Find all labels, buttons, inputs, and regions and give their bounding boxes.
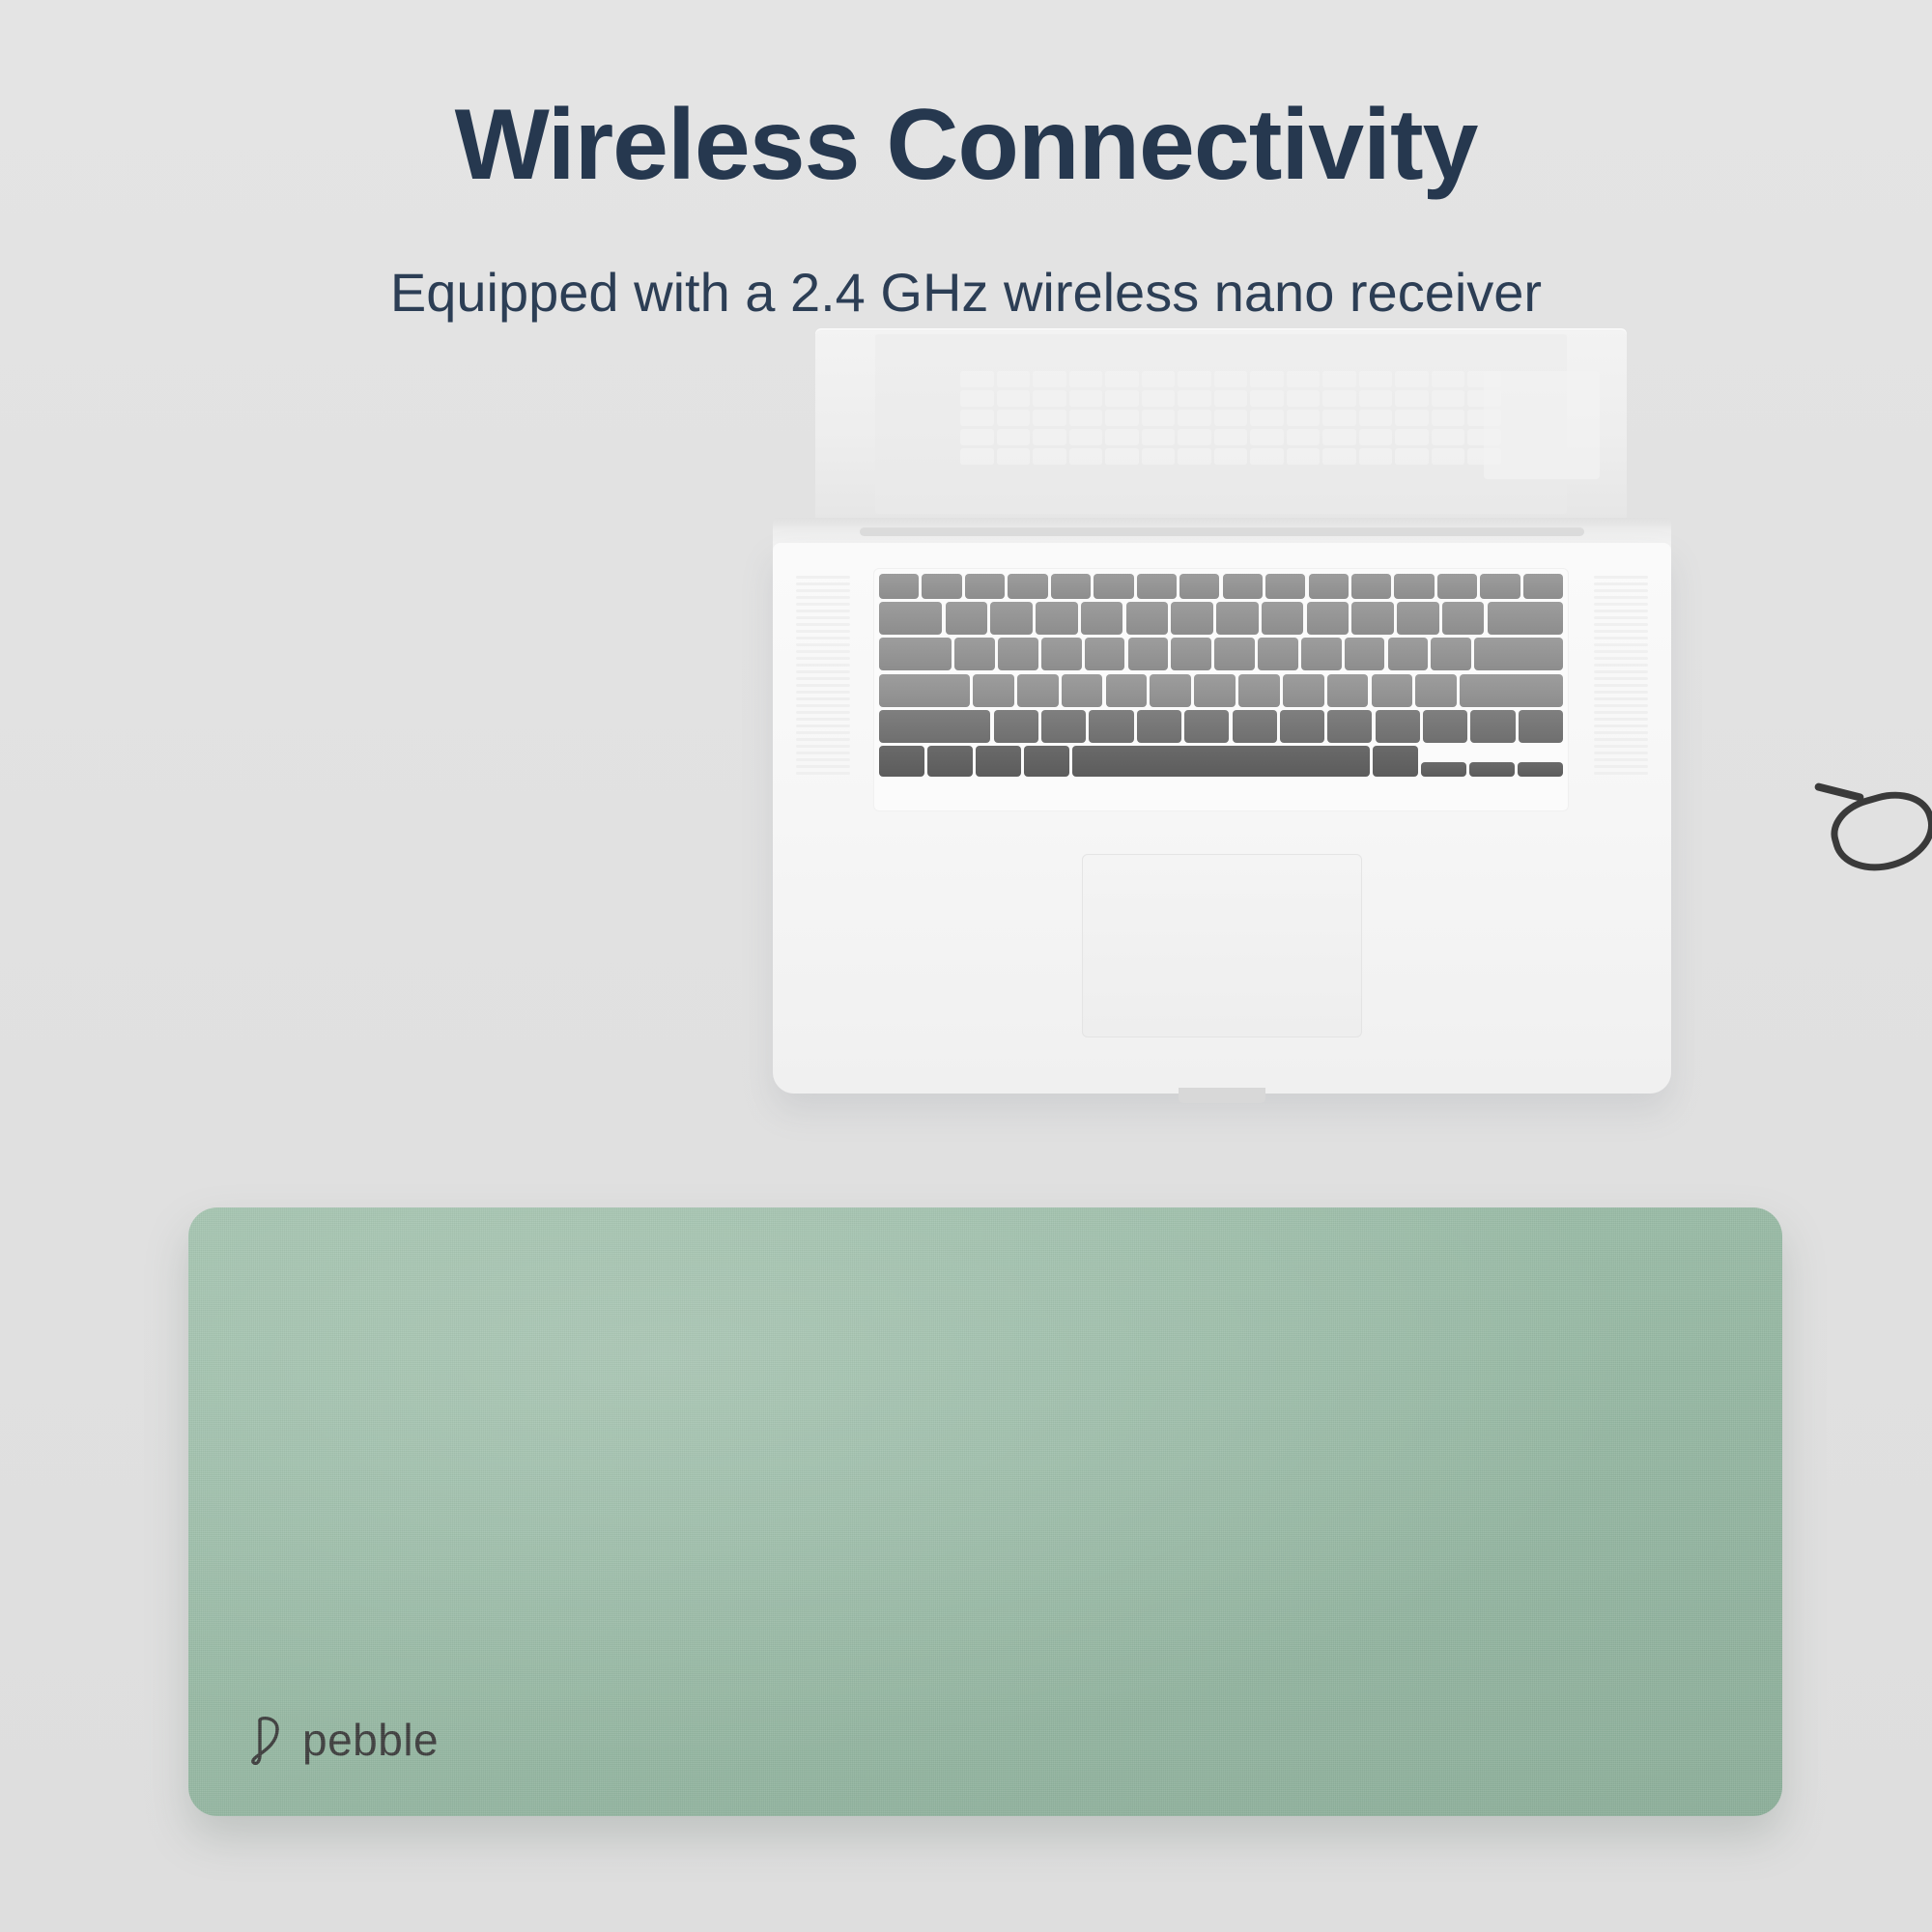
speaker-slot bbox=[796, 738, 850, 741]
laptop-key bbox=[1214, 638, 1255, 670]
laptop-key bbox=[1460, 674, 1563, 707]
laptop-key bbox=[879, 674, 970, 707]
laptop-reflection-key bbox=[1069, 410, 1103, 426]
laptop-reflection-key bbox=[1178, 429, 1211, 445]
speaker-slot bbox=[796, 657, 850, 660]
speaker-slot bbox=[1594, 704, 1648, 707]
speaker-slot bbox=[1594, 643, 1648, 646]
laptop-key bbox=[1184, 710, 1229, 743]
speaker-slot bbox=[796, 664, 850, 667]
speaker-slot bbox=[1594, 589, 1648, 592]
laptop-key bbox=[1307, 602, 1350, 635]
laptop-reflection-key bbox=[1432, 410, 1465, 426]
laptop-key bbox=[1041, 638, 1082, 670]
speaker-slot bbox=[796, 684, 850, 687]
speaker-slot bbox=[1594, 650, 1648, 653]
laptop-reflection-key bbox=[1250, 429, 1284, 445]
laptop-reflection-key bbox=[1432, 448, 1465, 465]
laptop-reflection-key bbox=[1105, 371, 1139, 387]
laptop-key bbox=[1238, 674, 1280, 707]
laptop-key bbox=[1179, 574, 1219, 599]
laptop-key bbox=[1283, 674, 1324, 707]
laptop-reflection-key bbox=[1395, 410, 1429, 426]
laptop-key bbox=[1376, 710, 1420, 743]
laptop-key bbox=[1233, 710, 1277, 743]
speaker-slot bbox=[1594, 677, 1648, 680]
laptop-reflection-key bbox=[1178, 390, 1211, 407]
laptop-keyboard-row bbox=[879, 574, 1563, 599]
laptop-reflection-key bbox=[1287, 429, 1321, 445]
laptop-reflection-key bbox=[1250, 390, 1284, 407]
laptop-key bbox=[1051, 574, 1091, 599]
laptop-reflection-row bbox=[960, 448, 1501, 465]
laptop-keyboard-row bbox=[879, 746, 1563, 777]
speaker-slot bbox=[796, 603, 850, 606]
speaker-slot bbox=[796, 752, 850, 754]
laptop-keyboard-row bbox=[879, 638, 1563, 670]
speaker-slot bbox=[1594, 664, 1648, 667]
speaker-slot bbox=[1594, 582, 1648, 585]
laptop-key bbox=[1372, 674, 1413, 707]
laptop-reflection-row bbox=[960, 429, 1501, 445]
laptop-key bbox=[1258, 638, 1298, 670]
laptop-screen-reflection bbox=[960, 371, 1501, 479]
speaker-slot bbox=[796, 758, 850, 761]
laptop-reflection-key bbox=[1069, 429, 1103, 445]
laptop-key bbox=[1089, 710, 1133, 743]
speaker-slot bbox=[796, 623, 850, 626]
laptop-key bbox=[1523, 574, 1563, 599]
laptop-key bbox=[1085, 638, 1125, 670]
laptop-key bbox=[927, 746, 973, 777]
laptop-reflection-key bbox=[1178, 371, 1211, 387]
glasses-temple bbox=[1814, 782, 1864, 802]
laptop-lid bbox=[815, 328, 1627, 522]
laptop-reflection-key bbox=[1214, 371, 1248, 387]
laptop-key bbox=[1194, 674, 1236, 707]
speaker-slot bbox=[1594, 657, 1648, 660]
pebble-loop-icon bbox=[248, 1715, 289, 1765]
laptop-reflection-key bbox=[960, 448, 994, 465]
laptop-reflection-key bbox=[1214, 410, 1248, 426]
laptop-key bbox=[1518, 762, 1563, 777]
speaker-slot bbox=[1594, 610, 1648, 612]
laptop-keyboard-row bbox=[879, 710, 1563, 743]
laptop-reflection-row bbox=[960, 371, 1501, 387]
speaker-slot bbox=[1594, 576, 1648, 579]
laptop-key bbox=[879, 602, 942, 635]
laptop-reflection-key bbox=[997, 429, 1031, 445]
speaker-slot bbox=[1594, 684, 1648, 687]
product-feature-banner: Wireless Connectivity Equipped with a 2.… bbox=[0, 0, 1932, 1932]
laptop-reflection-key bbox=[1287, 410, 1321, 426]
laptop-key bbox=[1394, 574, 1434, 599]
laptop-key bbox=[1437, 574, 1477, 599]
page-subtitle: Equipped with a 2.4 GHz wireless nano re… bbox=[0, 263, 1932, 323]
laptop-key bbox=[879, 710, 990, 743]
laptop-key bbox=[1126, 602, 1169, 635]
laptop-key bbox=[1474, 638, 1563, 670]
laptop-key bbox=[1262, 602, 1304, 635]
laptop-illustration bbox=[773, 328, 1671, 1121]
speaker-slot bbox=[796, 630, 850, 633]
mat-brand-logo: pebble bbox=[248, 1714, 439, 1766]
laptop-key bbox=[1351, 602, 1394, 635]
laptop-reflection-key bbox=[1359, 429, 1393, 445]
speaker-slot bbox=[796, 731, 850, 734]
laptop-reflection-key bbox=[1142, 371, 1176, 387]
laptop-key bbox=[1480, 574, 1520, 599]
laptop-key bbox=[1327, 710, 1372, 743]
laptop-key bbox=[1017, 674, 1059, 707]
mat-brand-text: pebble bbox=[302, 1714, 439, 1766]
speaker-slot bbox=[1594, 623, 1648, 626]
laptop-reflection-key bbox=[960, 390, 994, 407]
laptop-key bbox=[1519, 710, 1563, 743]
laptop-reflection-key bbox=[1395, 429, 1429, 445]
laptop-hinge-slot bbox=[860, 527, 1584, 536]
laptop-reflection-key bbox=[960, 371, 994, 387]
laptop-key bbox=[965, 574, 1005, 599]
laptop-reflection-key bbox=[1142, 390, 1176, 407]
laptop-key bbox=[1094, 574, 1133, 599]
laptop-key bbox=[1423, 710, 1467, 743]
laptop-reflection-key bbox=[1214, 448, 1248, 465]
speaker-slot bbox=[796, 697, 850, 700]
laptop-key bbox=[1106, 674, 1148, 707]
laptop-key bbox=[1488, 602, 1563, 635]
laptop-key bbox=[973, 674, 1014, 707]
laptop-key bbox=[1150, 674, 1191, 707]
laptop-key bbox=[954, 638, 995, 670]
laptop-key bbox=[1072, 746, 1371, 777]
laptop-reflection-key bbox=[997, 390, 1031, 407]
laptop-reflection-key bbox=[997, 410, 1031, 426]
laptop-reflection-key bbox=[1432, 390, 1465, 407]
laptop-key bbox=[1442, 602, 1485, 635]
speaker-slot bbox=[1594, 745, 1648, 748]
speaker-slot bbox=[1594, 630, 1648, 633]
laptop-key bbox=[1216, 602, 1259, 635]
speaker-slot bbox=[796, 772, 850, 775]
laptop-key bbox=[1388, 638, 1429, 670]
speaker-slot bbox=[796, 677, 850, 680]
speaker-slot bbox=[1594, 718, 1648, 721]
laptop-speaker-right bbox=[1594, 576, 1648, 779]
speaker-slot bbox=[796, 765, 850, 768]
speaker-slot bbox=[796, 637, 850, 639]
speaker-slot bbox=[796, 650, 850, 653]
laptop-keyboard-row bbox=[879, 674, 1563, 707]
speaker-slot bbox=[1594, 765, 1648, 768]
laptop-reflection-key bbox=[1432, 371, 1465, 387]
speaker-slot bbox=[796, 691, 850, 694]
speaker-slot bbox=[796, 745, 850, 748]
laptop-reflection-key bbox=[1287, 448, 1321, 465]
laptop-reflection-key bbox=[1322, 448, 1356, 465]
speaker-slot bbox=[796, 596, 850, 599]
laptop-reflection-key bbox=[1395, 448, 1429, 465]
laptop-key bbox=[1351, 574, 1391, 599]
laptop-key bbox=[1081, 602, 1123, 635]
speaker-slot bbox=[1594, 596, 1648, 599]
laptop-reflection-key bbox=[1069, 371, 1103, 387]
speaker-slot bbox=[796, 616, 850, 619]
laptop-reflection-key bbox=[1250, 371, 1284, 387]
laptop-keyboard-row bbox=[879, 602, 1563, 635]
laptop-reflection-key bbox=[1395, 371, 1429, 387]
laptop-reflection-key bbox=[1214, 390, 1248, 407]
laptop-reflection-key bbox=[1105, 429, 1139, 445]
laptop-reflection-key bbox=[1105, 410, 1139, 426]
laptop-reflection-key bbox=[1142, 410, 1176, 426]
speaker-slot bbox=[796, 643, 850, 646]
speaker-slot bbox=[1594, 697, 1648, 700]
laptop-key bbox=[1062, 674, 1103, 707]
laptop-key bbox=[1397, 602, 1439, 635]
laptop-key bbox=[1036, 602, 1078, 635]
laptop-key bbox=[1171, 638, 1211, 670]
laptop-keyboard bbox=[873, 568, 1569, 811]
laptop-key bbox=[1431, 638, 1471, 670]
laptop-key bbox=[1265, 574, 1305, 599]
laptop-reflection-key bbox=[1142, 429, 1176, 445]
laptop-key bbox=[994, 710, 1038, 743]
laptop-key bbox=[1373, 746, 1418, 777]
laptop-speaker-left bbox=[796, 576, 850, 779]
speaker-slot bbox=[1594, 758, 1648, 761]
laptop-key bbox=[1421, 762, 1466, 777]
speaker-slot bbox=[1594, 637, 1648, 639]
laptop-reflection-key bbox=[1214, 429, 1248, 445]
laptop-reflection-key bbox=[1033, 390, 1066, 407]
speaker-slot bbox=[796, 610, 850, 612]
laptop-key bbox=[1137, 710, 1181, 743]
laptop-reflection-key bbox=[1359, 371, 1393, 387]
laptop-reflection-row bbox=[960, 410, 1501, 426]
laptop-key bbox=[1327, 674, 1369, 707]
speaker-slot bbox=[1594, 738, 1648, 741]
laptop-reflection-key bbox=[1287, 371, 1321, 387]
laptop-reflection-key bbox=[1359, 410, 1393, 426]
laptop-key bbox=[1041, 710, 1086, 743]
speaker-slot bbox=[1594, 724, 1648, 727]
laptop-reflection-key bbox=[997, 371, 1031, 387]
desk-mat: pebble pebble ESCF1⚙F2◂F3▸F4▣F5⏮F6⏭F7⏸F8… bbox=[188, 1207, 1782, 1816]
speaker-slot bbox=[796, 724, 850, 727]
laptop-key bbox=[1171, 602, 1213, 635]
laptop-base bbox=[773, 543, 1671, 1094]
laptop-reflection-key bbox=[1322, 429, 1356, 445]
laptop-key bbox=[1415, 674, 1457, 707]
laptop-reflection-key bbox=[1359, 448, 1393, 465]
laptop-key bbox=[1008, 574, 1047, 599]
laptop-reflection-key bbox=[1033, 448, 1066, 465]
laptop-screen-reflection-numpad bbox=[1484, 371, 1600, 479]
laptop-reflection-key bbox=[1033, 429, 1066, 445]
speaker-slot bbox=[1594, 731, 1648, 734]
laptop-reflection-row bbox=[960, 390, 1501, 407]
eyeglasses-prop bbox=[1806, 773, 1932, 889]
laptop-reflection-key bbox=[1322, 410, 1356, 426]
laptop-reflection-key bbox=[1033, 410, 1066, 426]
laptop-reflection-key bbox=[1287, 390, 1321, 407]
laptop-reflection-key bbox=[1069, 448, 1103, 465]
laptop-key bbox=[1470, 710, 1515, 743]
laptop-key bbox=[1223, 574, 1263, 599]
laptop-latch bbox=[1179, 1088, 1265, 1103]
laptop-key bbox=[879, 574, 919, 599]
laptop-reflection-key bbox=[1395, 390, 1429, 407]
speaker-slot bbox=[796, 704, 850, 707]
laptop-key bbox=[879, 746, 924, 777]
laptop-key bbox=[1345, 638, 1385, 670]
laptop-reflection-key bbox=[1033, 371, 1066, 387]
speaker-slot bbox=[796, 670, 850, 673]
laptop-reflection-key bbox=[960, 429, 994, 445]
speaker-slot bbox=[1594, 772, 1648, 775]
laptop-key bbox=[998, 638, 1038, 670]
speaker-slot bbox=[796, 589, 850, 592]
laptop-key bbox=[922, 574, 961, 599]
laptop-key bbox=[1024, 746, 1069, 777]
laptop-key bbox=[879, 638, 952, 670]
laptop-key bbox=[1469, 762, 1515, 777]
speaker-slot bbox=[1594, 711, 1648, 714]
laptop-reflection-key bbox=[1105, 390, 1139, 407]
laptop-key bbox=[1128, 638, 1169, 670]
speaker-slot bbox=[1594, 616, 1648, 619]
laptop-key bbox=[976, 746, 1021, 777]
laptop-reflection-key bbox=[1069, 390, 1103, 407]
laptop-reflection-key bbox=[1322, 371, 1356, 387]
laptop-key bbox=[1309, 574, 1349, 599]
speaker-slot bbox=[796, 711, 850, 714]
page-title: Wireless Connectivity bbox=[0, 93, 1932, 198]
laptop-reflection-key bbox=[1250, 448, 1284, 465]
speaker-slot bbox=[1594, 603, 1648, 606]
laptop-key bbox=[990, 602, 1033, 635]
laptop-reflection-key bbox=[1105, 448, 1139, 465]
speaker-slot bbox=[1594, 670, 1648, 673]
laptop-reflection-key bbox=[1142, 448, 1176, 465]
laptop-reflection-key bbox=[1178, 410, 1211, 426]
speaker-slot bbox=[1594, 691, 1648, 694]
laptop-key bbox=[1280, 710, 1324, 743]
laptop-reflection-key bbox=[997, 448, 1031, 465]
laptop-reflection-key bbox=[1322, 390, 1356, 407]
laptop-reflection-key bbox=[1359, 390, 1393, 407]
laptop-key bbox=[1301, 638, 1342, 670]
speaker-slot bbox=[796, 576, 850, 579]
laptop-reflection-key bbox=[960, 410, 994, 426]
speaker-slot bbox=[1594, 752, 1648, 754]
laptop-reflection-key bbox=[1432, 429, 1465, 445]
laptop-reflection-key bbox=[1250, 410, 1284, 426]
laptop-reflection-key bbox=[1178, 448, 1211, 465]
laptop-key bbox=[946, 602, 988, 635]
laptop-trackpad bbox=[1082, 854, 1362, 1037]
speaker-slot bbox=[796, 582, 850, 585]
laptop-key bbox=[1137, 574, 1177, 599]
speaker-slot bbox=[796, 718, 850, 721]
